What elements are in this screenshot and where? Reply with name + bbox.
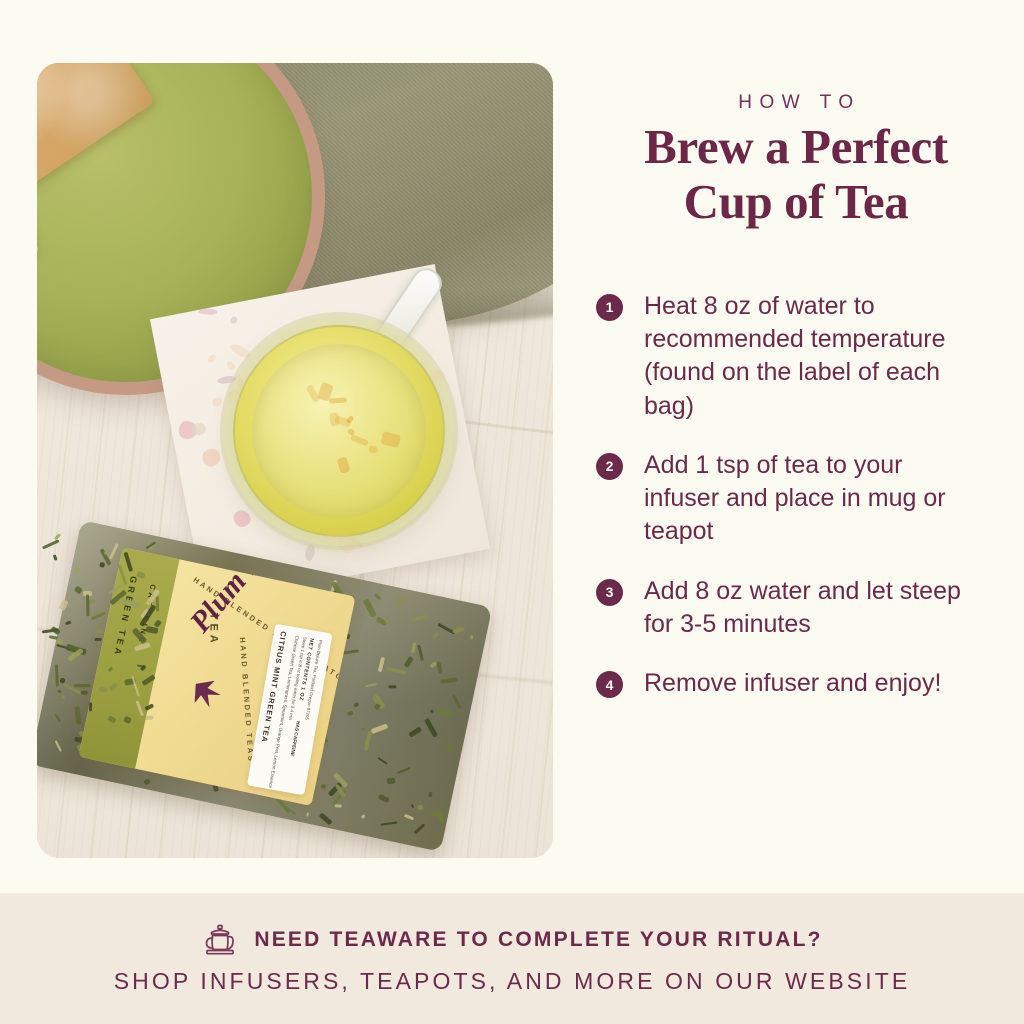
tea-leaf bbox=[408, 726, 422, 737]
tea-leaf bbox=[335, 804, 342, 807]
terrazzo-fleck bbox=[198, 309, 217, 315]
terrazzo-fleck bbox=[229, 342, 252, 360]
tea-leaf bbox=[469, 636, 472, 640]
tea-leaf bbox=[414, 823, 426, 834]
tea-leaf bbox=[306, 813, 309, 818]
step-text: Add 1 tsp of tea to your infuser and pla… bbox=[644, 449, 984, 549]
terrazzo-fleck bbox=[211, 395, 224, 408]
tea-leaf bbox=[432, 631, 440, 639]
tea-leaf bbox=[396, 767, 410, 774]
plum-deluxe-logo-mark bbox=[186, 673, 225, 713]
tea-leaf bbox=[378, 794, 390, 803]
tea-leaf bbox=[365, 683, 378, 688]
spilled-tea-leaf bbox=[155, 597, 159, 612]
tea-leaf bbox=[364, 599, 377, 618]
spilled-tea-leaf bbox=[89, 702, 93, 711]
step-text: Add 8 oz water and let steep for 3-5 min… bbox=[644, 575, 984, 642]
step-text: Remove infuser and enjoy! bbox=[644, 667, 941, 700]
tea-leaf bbox=[418, 805, 423, 811]
tea-leaf bbox=[404, 656, 414, 668]
tea-leaf bbox=[411, 804, 415, 809]
tea-leaf bbox=[418, 645, 425, 662]
spilled-tea-leaf bbox=[95, 637, 102, 640]
tea-leaf bbox=[440, 678, 457, 684]
tea-leaf bbox=[446, 744, 453, 753]
brewing-step: 4Remove infuser and enjoy! bbox=[596, 667, 996, 700]
brewing-step: 3Add 8 oz water and let steep for 3-5 mi… bbox=[596, 575, 996, 642]
brewed-tea-liquid bbox=[252, 344, 426, 518]
tea-leaf bbox=[319, 812, 332, 824]
tea-leaf bbox=[374, 703, 382, 711]
tea-leaf bbox=[384, 618, 391, 624]
page-title: Brew a Perfect Cup of Tea bbox=[596, 120, 996, 230]
step-number-badge: 4 bbox=[596, 671, 623, 698]
step-text: Heat 8 oz of water to recommended temper… bbox=[644, 290, 984, 423]
step-number-badge: 1 bbox=[596, 294, 623, 321]
tea-package: GREEN TEA CAFFEINE HAND BLENDED . SMALL … bbox=[37, 520, 492, 852]
tea-leaf bbox=[436, 708, 452, 717]
step-number-badge: 2 bbox=[596, 453, 623, 480]
tea-leaf bbox=[54, 740, 62, 752]
terrazzo-fleck bbox=[199, 446, 223, 470]
terrazzo-fleck bbox=[231, 507, 254, 530]
tea-leaf bbox=[380, 822, 397, 826]
teapot-icon bbox=[201, 923, 239, 957]
infographic-canvas: GREEN TEA CAFFEINE HAND BLENDED . SMALL … bbox=[0, 0, 1024, 1024]
footer-subline[interactable]: SHOP INFUSERS, TEAPOTS, AND MORE ON OUR … bbox=[114, 968, 911, 995]
citrus-peel-bit bbox=[336, 457, 350, 474]
tea-leaf bbox=[423, 718, 437, 738]
spilled-tea-leaf bbox=[86, 595, 89, 617]
tea-leaf bbox=[436, 661, 442, 674]
tea-leaf bbox=[321, 784, 326, 789]
footer-headline: NEED TEAWARE TO COMPLETE YOUR RITUAL? bbox=[254, 928, 822, 952]
tea-leaf bbox=[353, 702, 360, 708]
tea-leaf bbox=[143, 778, 151, 786]
tea-flatlay-photo: GREEN TEA CAFFEINE HAND BLENDED . SMALL … bbox=[37, 63, 553, 858]
tea-leaf bbox=[342, 650, 359, 655]
kicker-label: HOW TO bbox=[596, 92, 996, 114]
step-number-badge: 3 bbox=[596, 579, 623, 606]
spilled-tea-leaf bbox=[42, 540, 59, 550]
tea-leaf bbox=[452, 626, 464, 633]
tea-leaf bbox=[385, 667, 405, 675]
terrazzo-fleck bbox=[206, 352, 218, 363]
photo-wood-background: GREEN TEA CAFFEINE HAND BLENDED . SMALL … bbox=[37, 63, 553, 858]
tea-leaf bbox=[403, 814, 414, 821]
title-line-2: Cup of Tea bbox=[684, 174, 909, 229]
tea-leaf bbox=[387, 778, 395, 784]
terrazzo-fleck bbox=[225, 359, 236, 371]
tea-leaf bbox=[361, 814, 366, 819]
brewing-steps-list: 1Heat 8 oz of water to recommended tempe… bbox=[596, 290, 996, 701]
sticker-title: CITRUS MINT GREEN TEA bbox=[260, 630, 288, 743]
tea-leaf bbox=[373, 594, 381, 602]
footer-headline-row: NEED TEAWARE TO COMPLETE YOUR RITUAL? bbox=[201, 923, 822, 957]
tea-leaf bbox=[394, 597, 405, 607]
tea-leaf bbox=[430, 710, 434, 714]
brewing-step: 2Add 1 tsp of tea to your infuser and pl… bbox=[596, 449, 996, 549]
title-line-1: Brew a Perfect bbox=[644, 119, 948, 174]
tea-leaf bbox=[428, 792, 432, 798]
citrus-peel-bit bbox=[329, 397, 347, 403]
brewing-step: 1Heat 8 oz of water to recommended tempe… bbox=[596, 290, 996, 423]
tea-leaf bbox=[452, 694, 461, 709]
tea-leaf bbox=[378, 756, 388, 764]
instructions-column: HOW TO Brew a Perfect Cup of Tea 1Heat 8… bbox=[596, 78, 996, 726]
glass-tea-cup bbox=[233, 325, 445, 537]
tea-leaf bbox=[363, 731, 372, 751]
terrazzo-fleck bbox=[229, 315, 239, 325]
tea-leaf bbox=[56, 689, 61, 694]
footer-cta-banner[interactable]: NEED TEAWARE TO COMPLETE YOUR RITUAL? SH… bbox=[0, 893, 1024, 1024]
citrus-peel-bit bbox=[350, 434, 369, 446]
tea-leaf bbox=[410, 613, 427, 622]
terrazzo-fleck bbox=[304, 544, 316, 562]
cracker bbox=[37, 63, 155, 196]
tea-leaf bbox=[361, 728, 366, 731]
tea-leaf bbox=[100, 562, 106, 568]
tea-leaf bbox=[347, 710, 354, 716]
tea-leaf bbox=[378, 657, 385, 672]
sticker-caffeine-note: HAS CAFFEINE bbox=[289, 721, 300, 757]
citrus-peel-bit bbox=[369, 445, 379, 454]
tea-leaf bbox=[371, 724, 389, 735]
citrus-peel-bit bbox=[381, 431, 402, 448]
tea-leaf bbox=[389, 685, 397, 688]
terrazzo-fleck bbox=[217, 375, 237, 384]
spilled-tea-leaf bbox=[52, 554, 57, 561]
tea-leaf bbox=[411, 642, 416, 653]
citrus-peel-bit bbox=[329, 412, 339, 426]
cheese-cube bbox=[37, 181, 39, 273]
tea-leaf bbox=[61, 695, 65, 699]
tea-leaf bbox=[73, 683, 90, 687]
